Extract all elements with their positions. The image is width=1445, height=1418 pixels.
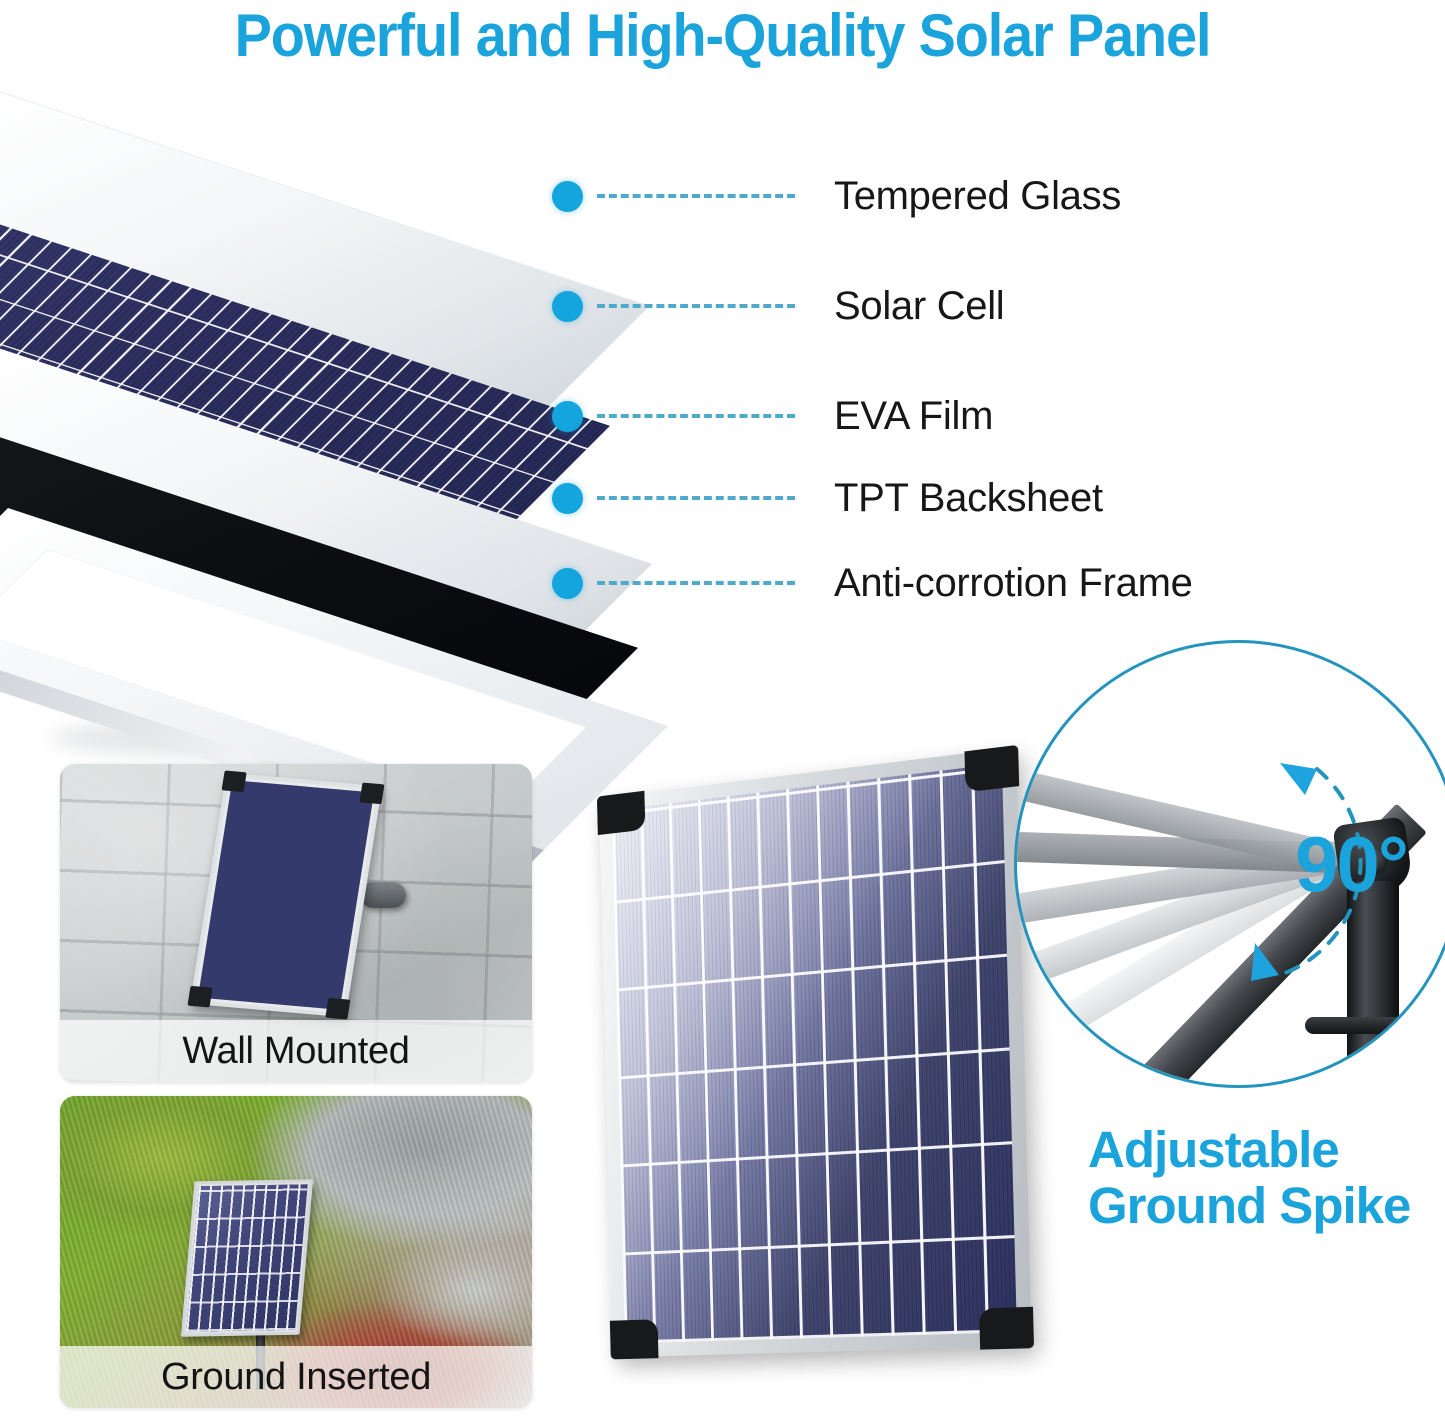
callout-tempered-glass: Tempered Glass	[552, 173, 795, 219]
panel-corner-bracket	[597, 791, 645, 835]
leader-line	[597, 194, 795, 198]
panel-corner-bracket	[325, 998, 350, 1020]
leader-line	[597, 304, 795, 308]
leader-line	[597, 496, 795, 500]
angle-label: 90°	[1295, 819, 1407, 910]
panel-corner-bracket	[979, 1307, 1034, 1350]
callout-solar-cell: Solar Cell	[552, 283, 795, 329]
panel-cell-grid	[186, 1184, 307, 1331]
panel-corner-bracket	[964, 745, 1019, 792]
panel-cell-grid	[198, 780, 374, 1010]
adjustable-ground-spike-headline: Adjustable Ground Spike	[1088, 1122, 1438, 1234]
ground-inserted-photo-card: Ground Inserted	[60, 1096, 532, 1408]
bullet-dot-icon	[552, 291, 583, 322]
callout-anti-corrosion-frame: Anti-corrotion Frame	[552, 560, 795, 606]
callout-eva-film: EVA Film	[552, 393, 795, 439]
panel-cell-grid	[612, 763, 1017, 1343]
card-caption: Ground Inserted	[60, 1346, 532, 1408]
headline-line-1: Adjustable	[1088, 1122, 1438, 1178]
wall-mount-bracket	[360, 882, 406, 908]
wall-mounted-photo-card: Wall Mounted	[60, 764, 532, 1082]
callout-label: TPT Backsheet	[834, 476, 1103, 520]
page-title: Powerful and High-Quality Solar Panel	[51, 2, 1395, 74]
callout-label: Tempered Glass	[834, 174, 1121, 218]
bullet-dot-icon	[552, 483, 583, 514]
panel-corner-bracket	[610, 1319, 659, 1359]
card-caption: Wall Mounted	[60, 1020, 532, 1082]
panel-corner-bracket	[187, 986, 212, 1008]
bullet-dot-icon	[552, 181, 583, 212]
panel-corner-bracket	[222, 770, 247, 792]
panel-corner-bracket	[359, 783, 384, 805]
magnifier-inset-circle: 90°	[1014, 640, 1445, 1088]
exploded-panel-diagram	[0, 78, 570, 798]
callout-label: Solar Cell	[834, 284, 1004, 328]
leader-line	[597, 414, 795, 418]
callout-label: EVA Film	[834, 394, 993, 438]
callout-tpt-backsheet: TPT Backsheet	[552, 475, 795, 521]
spike-leg	[1028, 1064, 1075, 1319]
callout-label: Anti-corrotion Frame	[834, 561, 1193, 605]
bullet-dot-icon	[552, 568, 583, 599]
main-solar-panel-product	[599, 747, 1032, 1357]
leader-line	[597, 581, 795, 585]
bullet-dot-icon	[552, 401, 583, 432]
headline-line-2: Ground Spike	[1088, 1178, 1438, 1234]
ground-mounted-solar-panel	[181, 1179, 313, 1336]
